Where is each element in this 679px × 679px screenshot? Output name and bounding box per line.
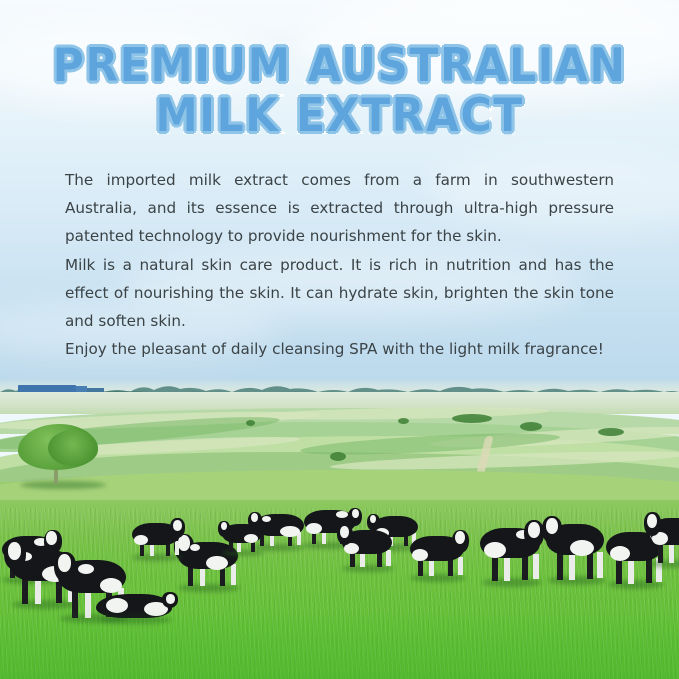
product-feature-poster: PREMIUM AUSTRALIAN MILK EXTRACT The impo…: [0, 0, 679, 679]
description-paragraph-1: The imported milk extract comes from a f…: [65, 166, 614, 251]
cloud-wisp: [0, 18, 270, 108]
tree-shadow: [20, 481, 106, 489]
cow: [648, 508, 679, 568]
cow: [220, 516, 266, 556]
hill-bush: [520, 422, 542, 431]
pasture-photograph: [0, 378, 679, 679]
description-paragraph-2: Milk is a natural skin care product. It …: [65, 251, 614, 336]
cloud-wisp: [300, 0, 679, 100]
cow: [408, 526, 468, 582]
cow: [478, 516, 544, 588]
hill-bush: [398, 418, 409, 424]
description-copy: The imported milk extract comes from a f…: [65, 166, 614, 363]
cow: [130, 514, 184, 560]
cow: [340, 520, 396, 572]
tree-canopy: [48, 430, 98, 466]
hill-bush: [246, 420, 255, 426]
hill-bush: [598, 428, 624, 436]
hill-bush: [452, 414, 492, 423]
foreground-grass-blur: [0, 609, 679, 679]
hill-bush: [330, 452, 346, 461]
cow: [544, 512, 608, 586]
description-paragraph-3: Enjoy the pleasant of daily cleansing SP…: [65, 335, 614, 363]
lone-tree: [18, 424, 102, 486]
